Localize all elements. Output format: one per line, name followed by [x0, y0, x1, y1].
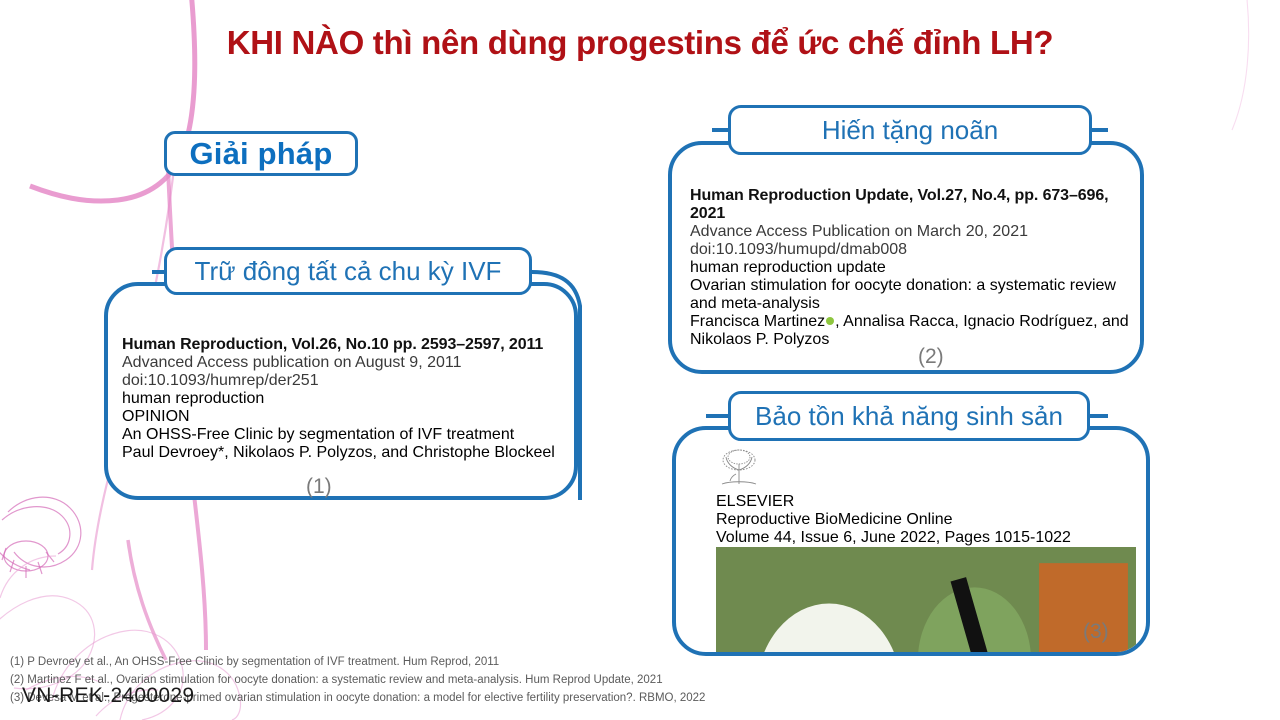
orcid-icon: [826, 317, 834, 325]
paper-2-journal-line1: Human Reproduction Update, Vol.27, No.4,…: [690, 187, 1142, 223]
paper-card-1: Human Reproduction, Vol.26, No.10 pp. 25…: [104, 282, 578, 500]
paper-3-journal-volume: Volume 44, Issue 6, June 2022, Pages 101…: [716, 529, 1136, 547]
paper-3-marker: (3): [1083, 620, 1109, 644]
tab-oocyte-donation[interactable]: Hiến tặng noãn: [728, 105, 1092, 155]
paper-1-title: An OHSS-Free Clinic by segmentation of I…: [122, 426, 568, 444]
paper-2-authors-line2: Nikolaos P. Polyzos: [690, 331, 829, 348]
elsevier-wordmark: ELSEVIER: [716, 493, 1136, 511]
paper-1-marker: (1): [306, 475, 332, 499]
paper-1-authors: Paul Devroey*, Nikolaos P. Polyzos, and …: [122, 444, 568, 462]
paper-2-logo-line1: human: [690, 259, 739, 276]
paper-2-content: Human Reproduction Update, Vol.27, No.4,…: [690, 187, 1142, 349]
tab-oocyte-donation-text: Hiến tặng noãn: [822, 115, 998, 146]
paper-1-band: human reproduction OPINION: [122, 390, 568, 426]
footnote-1: (1) P Devroey et al., An OHSS-Free Clini…: [10, 654, 840, 672]
paper-2-journal-line2: Advance Access Publication on March 20, …: [690, 223, 1142, 259]
solution-label-text: Giải pháp: [189, 136, 332, 172]
paper-2-authors-rest: , Annalisa Racca, Ignacio Rodríguez, and: [835, 313, 1129, 330]
journal-cover-thumbnail: RBMO: [716, 547, 1136, 656]
paper-2-band: human reproduction update: [690, 259, 1142, 277]
slide-canvas: KHI NÀO thì nên dùng progestins để ức ch…: [0, 0, 1280, 720]
paper-1-journal-logo: human reproduction: [122, 390, 568, 408]
material-code-stamp: VN-REK-2400029: [22, 684, 194, 708]
paper-3-content: ELSEVIER Reproductive BioMedicine Online…: [716, 448, 1136, 656]
paper-1-journal-line1: Human Reproduction, Vol.26, No.10 pp. 25…: [122, 336, 568, 354]
paper-2-authors-lead: Francisca Martinez: [690, 313, 825, 330]
paper-2-title: Ovarian stimulation for oocyte donation:…: [690, 277, 1142, 313]
paper-2-authors: Francisca Martinez, Annalisa Racca, Igna…: [690, 313, 1142, 349]
tab-fertility-preservation[interactable]: Bảo tồn khả năng sinh sản: [728, 391, 1090, 441]
paper-1-journal-line2: Advanced Access publication on August 9,…: [122, 354, 568, 390]
paper-3-journal-name: Reproductive BioMedicine Online: [716, 511, 1136, 529]
paper-2-logo-line3: update: [837, 259, 886, 276]
paper-2-marker: (2): [918, 345, 944, 369]
tab-freeze-all-ivf[interactable]: Trữ đông tất cả chu kỳ IVF: [164, 247, 532, 295]
paper-1-section-label: OPINION: [122, 408, 568, 426]
paper-1-logo-line2: reproduction: [175, 390, 264, 407]
paper-1-content: Human Reproduction, Vol.26, No.10 pp. 25…: [122, 336, 568, 462]
paper-card-3: ELSEVIER Reproductive BioMedicine Online…: [672, 426, 1150, 656]
paper-1-logo-line1: human: [122, 390, 171, 407]
paper-card-2: Human Reproduction Update, Vol.27, No.4,…: [668, 141, 1144, 374]
paper-3-journal-block: Reproductive BioMedicine Online Volume 4…: [716, 511, 1136, 547]
paper-3-masthead: ELSEVIER Reproductive BioMedicine Online…: [716, 448, 1136, 656]
elsevier-logo: ELSEVIER: [716, 448, 1136, 511]
tab-fertility-preservation-text: Bảo tồn khả năng sinh sản: [755, 401, 1063, 432]
paper-2-journal-logo: human reproduction update: [690, 259, 1142, 277]
paper-2-logo-line2: reproduction: [743, 259, 832, 276]
elsevier-tree-icon: [716, 448, 762, 488]
solution-label[interactable]: Giải pháp: [164, 131, 358, 176]
tab-freeze-all-ivf-text: Trữ đông tất cả chu kỳ IVF: [195, 256, 502, 287]
